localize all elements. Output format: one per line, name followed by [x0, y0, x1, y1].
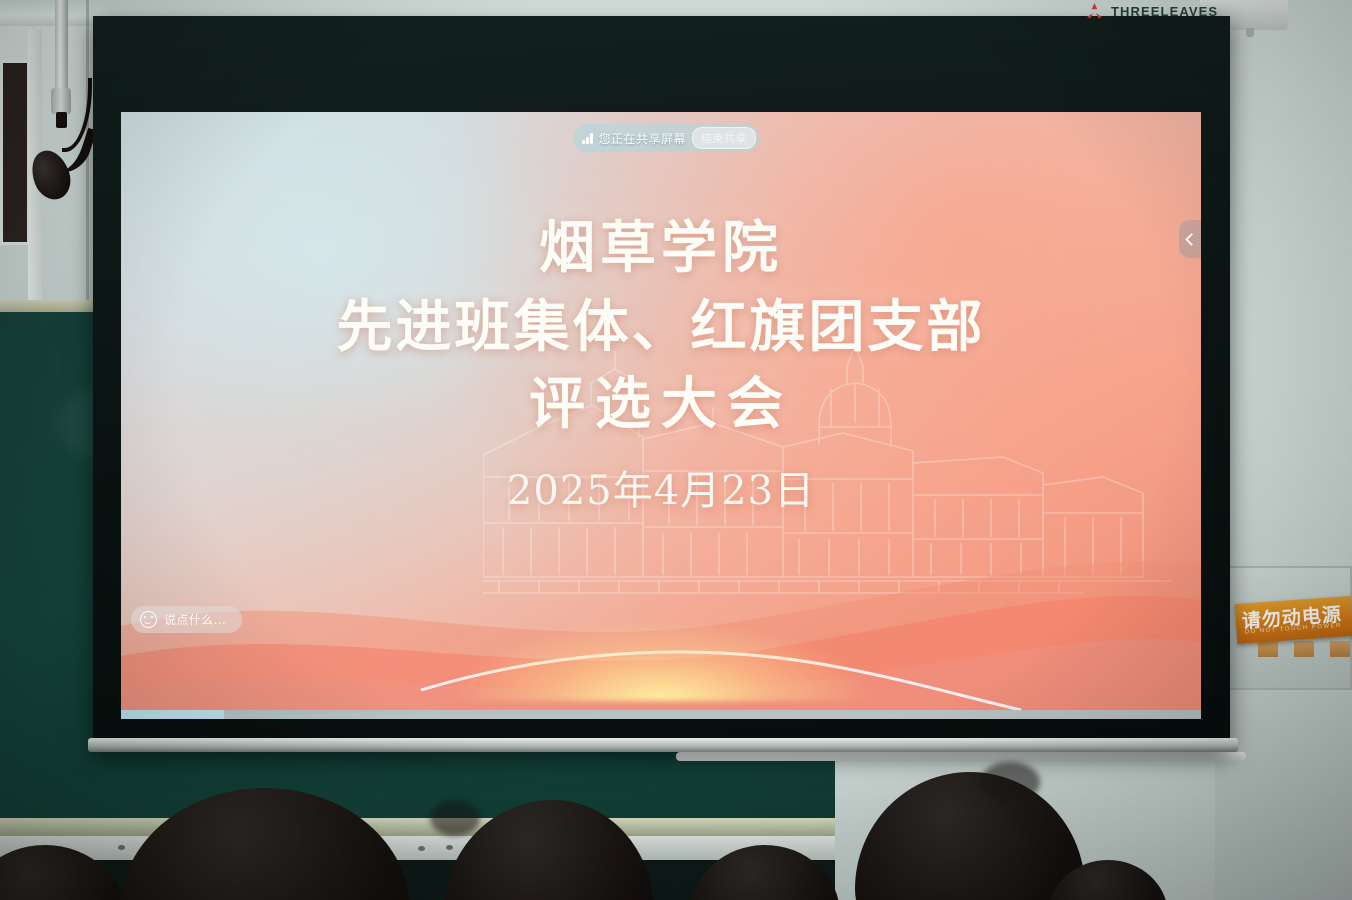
screen-share-banner[interactable]: 您正在共享屏幕 结束共享 — [573, 124, 760, 152]
slide-progress-track[interactable] — [121, 710, 1201, 719]
projector-mount-nub — [1246, 28, 1254, 37]
audience-hair-wisp — [430, 800, 480, 836]
classroom-scene: 请勿动电源 DO NOT TOUCH POWER THREELEAVES — [0, 0, 1352, 900]
three-leaf-logo-icon — [1085, 2, 1104, 20]
audience-hair-wisp — [980, 762, 1040, 802]
power-socket — [1258, 641, 1278, 657]
slide-progress-fill — [121, 710, 224, 719]
right-wall-lower — [1213, 690, 1352, 900]
screen-share-status-text: 您正在共享屏幕 — [599, 130, 687, 147]
chalk-piece — [418, 846, 425, 851]
chalkboard-bottom-rail — [0, 818, 835, 836]
stop-sharing-button[interactable]: 结束共享 — [692, 127, 756, 149]
projector-brand-name: THREELEAVES — [1111, 4, 1218, 19]
screen-share-bars-icon — [582, 133, 593, 144]
power-socket — [1294, 641, 1314, 657]
slide-glow-arc — [451, 621, 871, 701]
presentation-slide: 烟草学院 先进班集体、红旗团支部 评选大会 2025年4月23日 您正在共享屏幕… — [121, 112, 1201, 719]
slide-date: 2025年4月23日 — [121, 458, 1201, 516]
chalk-piece — [118, 845, 125, 850]
chat-input-placeholder: 说点什么... — [164, 611, 226, 628]
chevron-left-icon — [1185, 233, 1198, 246]
power-warning-sign: 请勿动电源 DO NOT TOUCH POWER — [1235, 596, 1352, 644]
chat-input[interactable]: 说点什么... — [131, 606, 242, 633]
chalk-piece — [446, 845, 453, 850]
slide-title-line-1: 烟草学院 — [121, 216, 1201, 281]
chalk-ledge — [0, 836, 835, 860]
smiley-face-icon[interactable] — [140, 611, 157, 628]
projector-brand-plate: THREELEAVES — [1085, 2, 1218, 20]
projection-screen-bottom-bar — [88, 738, 1238, 752]
slide-text-block: 烟草学院 先进班集体、红旗团支部 评选大会 2025年4月23日 — [121, 216, 1201, 516]
wall-rail — [676, 752, 1246, 761]
slide-title-line-2: 先进班集体、红旗团支部 — [121, 293, 1201, 361]
left-window-frame — [0, 60, 30, 245]
slide-title-line-3: 评选大会 — [121, 371, 1201, 438]
collapse-panel-button[interactable] — [1179, 220, 1201, 258]
power-socket — [1330, 641, 1350, 657]
projection-screen: 烟草学院 先进班集体、红旗团支部 评选大会 2025年4月23日 您正在共享屏幕… — [93, 16, 1230, 752]
